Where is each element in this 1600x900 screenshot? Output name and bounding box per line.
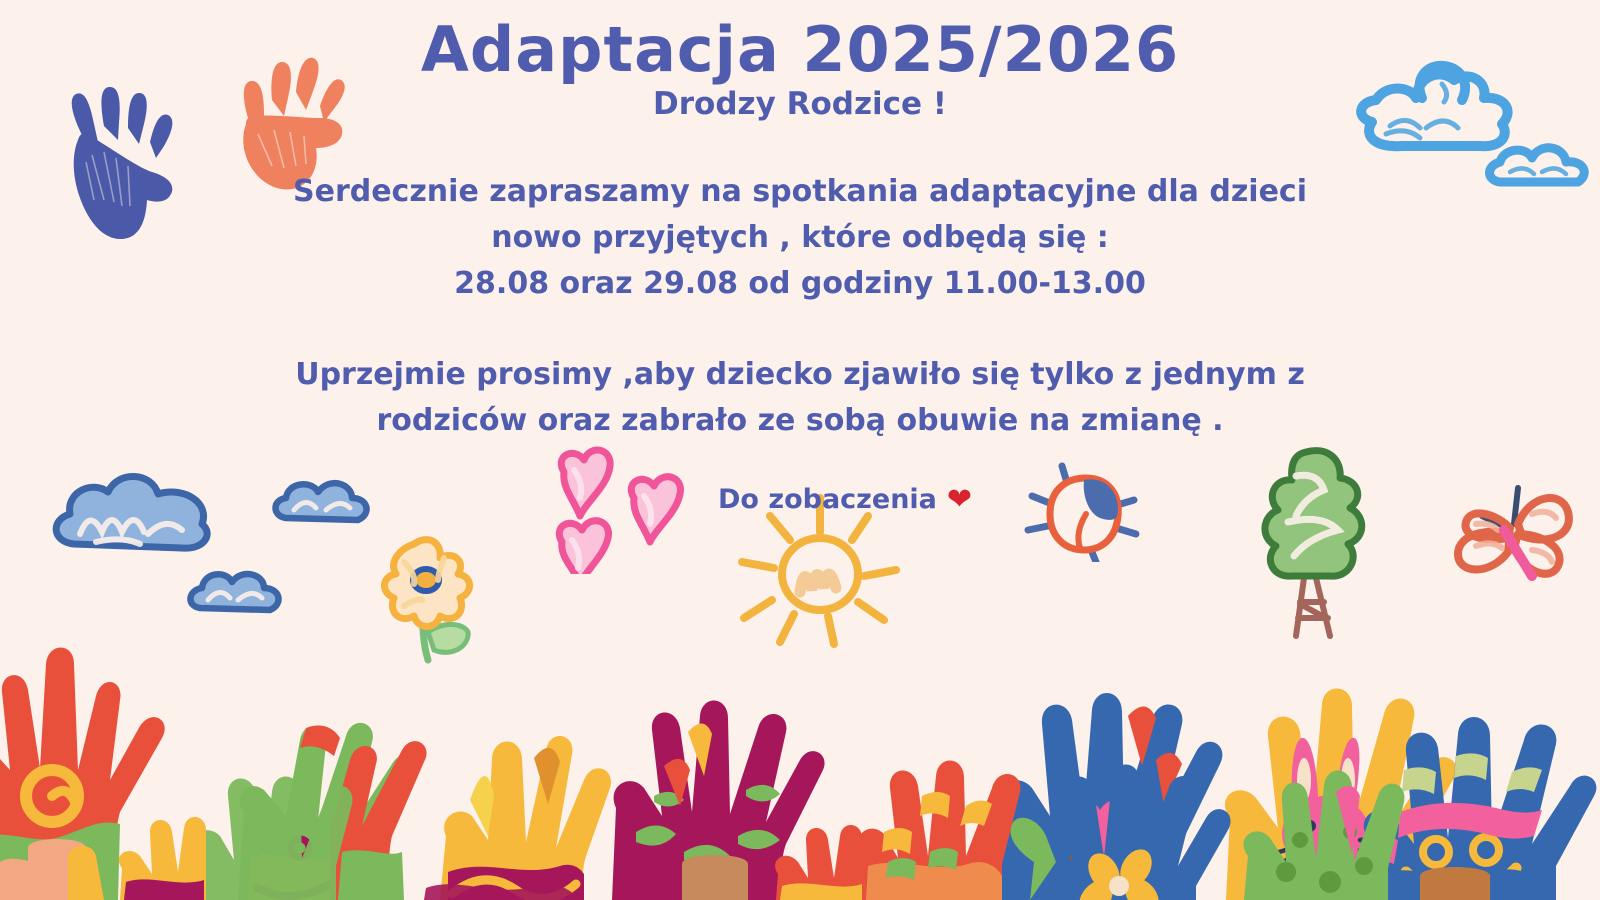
paragraph-1: Serdecznie zapraszamy na spotkania adapt…: [0, 169, 1600, 306]
doodle-cloud-small: [268, 470, 378, 532]
poster-text-block: Adaptacja 2025/2026 Drodzy Rodzice ! Ser…: [0, 0, 1600, 443]
signoff-text: Do zobaczenia: [718, 484, 937, 515]
paragraph-1-line-1: Serdecznie zapraszamy na spotkania adapt…: [293, 174, 1307, 209]
arm-skin-mid: [682, 855, 748, 900]
butterfly-doodle: [1436, 472, 1576, 582]
signoff: Do zobaczenia❤: [718, 482, 972, 517]
paragraph-1-line-3: 28.08 oraz 29.08 od godziny 11.00-13.00: [454, 266, 1146, 301]
page-title: Adaptacja 2025/2026: [0, 0, 1600, 81]
doodle-cloud-large: [44, 462, 234, 562]
paragraph-1-line-2: nowo przyjętych , które odbędą się :: [491, 220, 1108, 255]
paragraph-2-line-1: Uprzejmie prosimy ,aby dziecko zjawiło s…: [295, 357, 1305, 392]
hand-orange-right-centre: [858, 760, 1020, 900]
arm-brown-right: [1420, 867, 1490, 900]
red-heart-icon: ❤: [947, 482, 972, 517]
hand-yellow-smiley: [440, 736, 611, 900]
subtitle: Drodzy Rodzice !: [0, 87, 1600, 121]
hand-green-behind-left: [194, 776, 352, 900]
hand-pink-small: [119, 817, 206, 900]
raised-painted-hands-border: [0, 600, 1600, 900]
poster-canvas: Adaptacja 2025/2026 Drodzy Rodzice ! Ser…: [0, 0, 1600, 900]
paragraph-2: Uprzejmie prosimy ,aby dziecko zjawiło s…: [0, 352, 1600, 443]
paragraph-2-line-2: rodziców oraz zabrało ze sobą obuwie na …: [376, 403, 1223, 438]
ladybug-doodle: [1022, 462, 1142, 562]
pink-hearts: [538, 444, 708, 574]
